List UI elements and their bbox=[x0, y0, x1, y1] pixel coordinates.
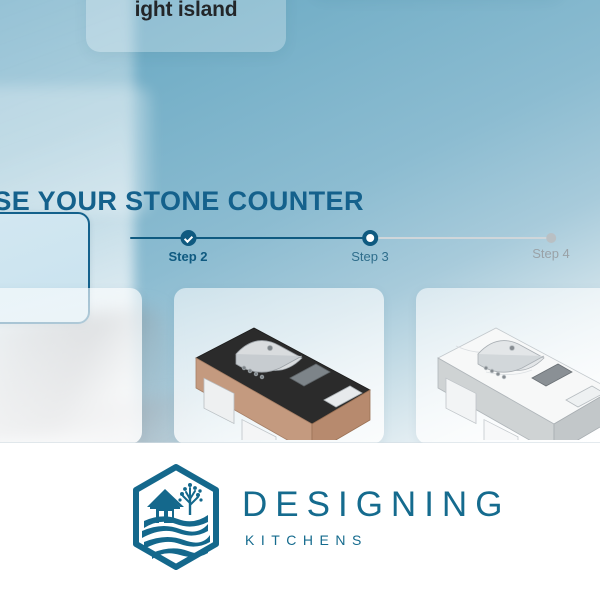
ring-icon bbox=[362, 230, 378, 246]
brand-name-main: DESIGNING bbox=[242, 487, 510, 522]
previous-step-card-row: ight island Stackstone Portland View Mor… bbox=[0, 0, 600, 166]
product-card-island-title: ight island bbox=[86, 0, 286, 22]
stepper-node-step-4[interactable]: Step 4 bbox=[532, 230, 570, 261]
counter-option-card-3[interactable] bbox=[416, 288, 600, 443]
outdoor-kitchen-white-marble-icon bbox=[426, 316, 600, 440]
counter-option-card-2[interactable] bbox=[174, 288, 384, 443]
screenshot-root: y ight islan bbox=[0, 0, 600, 600]
stepper-label-step-2: Step 2 bbox=[168, 249, 207, 264]
stepper-label-step-3: Step 3 bbox=[351, 249, 389, 264]
counter-option-card-1[interactable] bbox=[0, 288, 142, 443]
stepper-track-completed bbox=[130, 237, 378, 239]
product-card-island[interactable]: ight island bbox=[86, 0, 286, 52]
brand-name-sub: KITCHENS bbox=[245, 532, 510, 548]
step-progress-indicator: Step 2 Step 3 Step 4 bbox=[130, 230, 590, 276]
stepper-label-step-4: Step 4 bbox=[532, 246, 570, 261]
brand-logo-text: DESIGNING KITCHENS bbox=[242, 487, 510, 548]
kitchen-configurator-viewport: y ight islan bbox=[0, 0, 600, 443]
hexagon-house-logo-icon bbox=[128, 463, 224, 571]
brand-logo[interactable]: DESIGNING KITCHENS bbox=[128, 463, 510, 571]
counter-option-card-row bbox=[0, 288, 600, 443]
check-icon bbox=[180, 230, 196, 246]
stepper-node-step-3[interactable]: Step 3 bbox=[351, 230, 389, 264]
site-footer: DESIGNING KITCHENS bbox=[0, 443, 600, 600]
stepper-node-step-2[interactable]: Step 2 bbox=[168, 230, 207, 264]
dot-icon bbox=[546, 233, 556, 243]
page-title: OSE YOUR STONE COUNTER bbox=[0, 186, 532, 217]
outdoor-kitchen-black-granite-icon bbox=[184, 316, 376, 440]
